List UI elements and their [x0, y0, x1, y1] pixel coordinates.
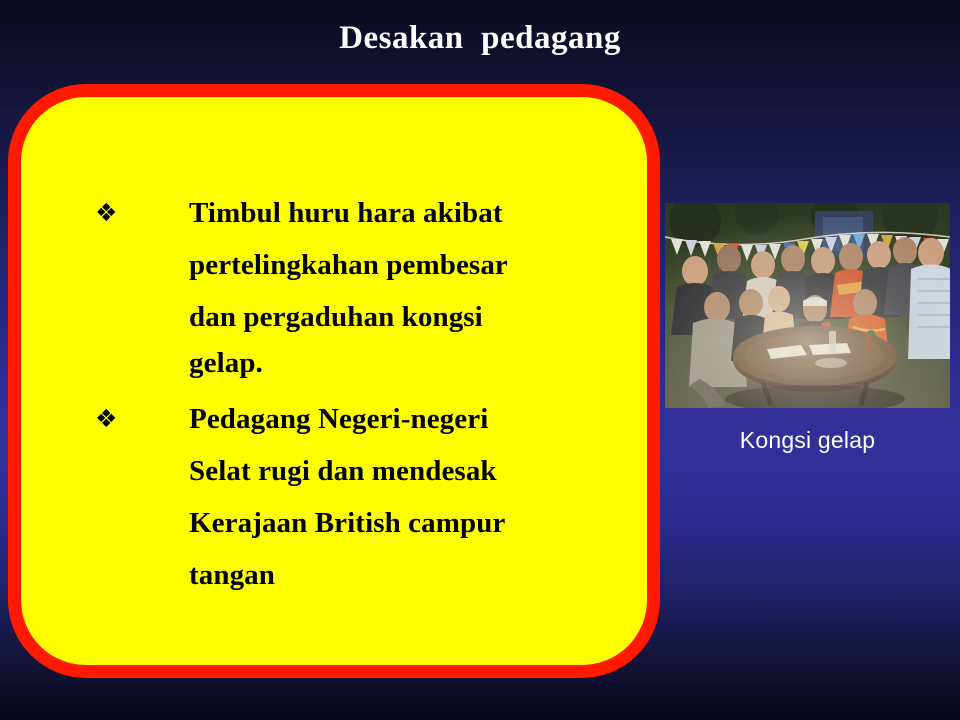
bullet-line: pertelingkahan pembesar	[189, 239, 579, 291]
kongsi-gelap-photo	[665, 203, 950, 408]
list-item: ❖ Pedagang Negeri-negeri Selat rugi dan …	[93, 393, 639, 601]
diamond-bullet-icon: ❖	[93, 393, 189, 445]
page-title: Desakan pedagang	[0, 18, 960, 58]
slide-canvas: Desakan pedagang ❖ Timbul huru hara akib…	[0, 0, 960, 720]
bullet-list: ❖ Timbul huru hara akibat pertelingkahan…	[21, 97, 647, 665]
bullet-line: Selat rugi dan mendesak	[189, 445, 579, 497]
photo-caption: Kongsi gelap	[665, 426, 950, 454]
bullet-line: Kerajaan British campur	[189, 497, 579, 549]
diamond-bullet-icon: ❖	[93, 187, 189, 239]
bullet-line: Pedagang Negeri-negeri	[189, 393, 579, 445]
bullet-line: dan pergaduhan kongsi	[189, 291, 579, 343]
list-item-text: Pedagang Negeri-negeri Selat rugi dan me…	[189, 393, 579, 601]
list-item-text: Timbul huru hara akibat pertelingkahan p…	[189, 187, 579, 383]
list-item: ❖ Timbul huru hara akibat pertelingkahan…	[93, 187, 639, 383]
bullet-line: Timbul huru hara akibat	[189, 187, 579, 239]
bullet-line: tangan	[189, 549, 579, 601]
content-box: ❖ Timbul huru hara akibat pertelingkahan…	[8, 84, 660, 678]
bullet-line-wrapped: gelap.	[189, 343, 579, 383]
photo-image	[665, 203, 950, 408]
